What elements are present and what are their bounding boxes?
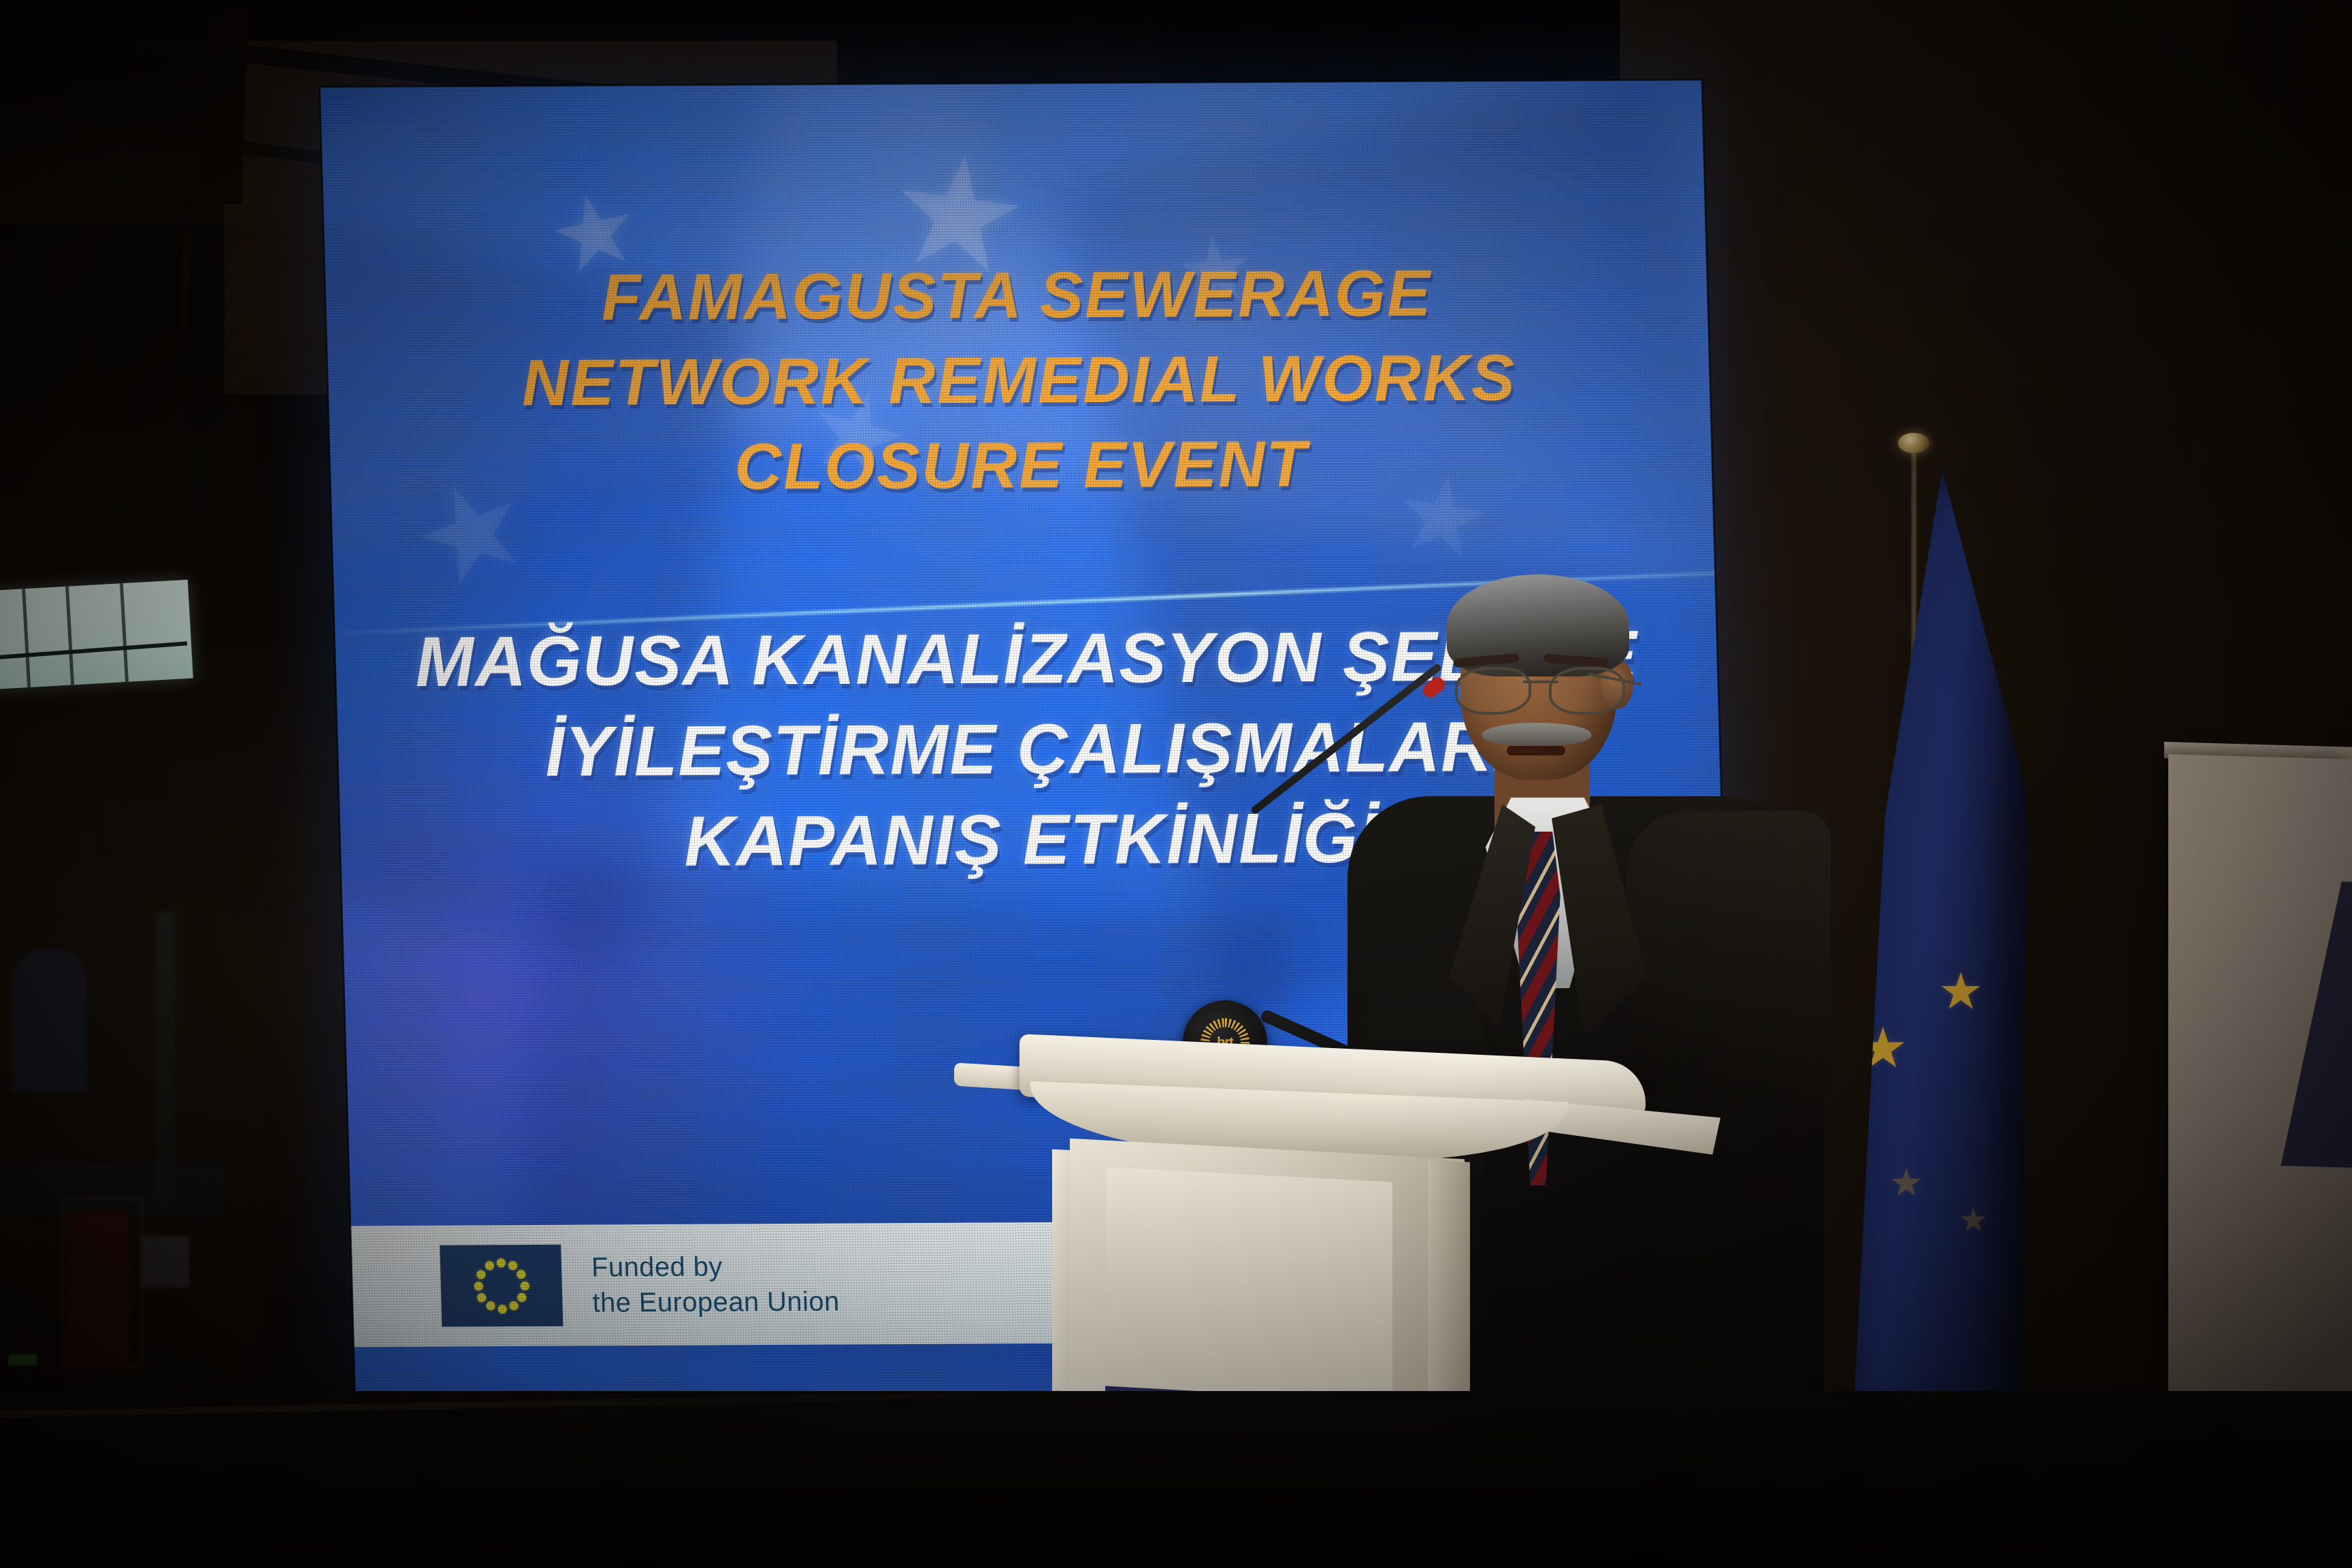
eu-flag-star-icon: [509, 1301, 518, 1310]
eu-flag-star-icon: [496, 1258, 505, 1267]
eu-flag-star-icon: [497, 1305, 506, 1313]
ceiling-pillar: [201, 0, 248, 204]
eu-flag-star-icon: [485, 1261, 493, 1270]
speaker-shoulder: [1627, 811, 1831, 1097]
eu-flag-icon: [440, 1245, 563, 1327]
background-door-light: [155, 912, 176, 1205]
eu-funding-line-2: the European Union: [592, 1284, 840, 1321]
stage-floor: [0, 1391, 2352, 1568]
eu-flag-star-icon: [474, 1281, 483, 1290]
eu-flag-star-icon: [517, 1293, 526, 1302]
eu-flag-draped-star-icon: ★: [1959, 1205, 1988, 1237]
background-clutter: [0, 939, 245, 1361]
speaker-moustache: [1482, 723, 1591, 746]
eu-flag-star-icon: [476, 1270, 485, 1279]
hall-window: [0, 580, 193, 690]
eu-flag-star-icon: [477, 1293, 486, 1302]
flag-pole-finial-icon: [1898, 433, 1929, 453]
slide-title-en-line-1: FAMAGUSTA SEWERAGE: [325, 250, 1709, 342]
banner-graphic-shape: [2281, 881, 2352, 1169]
eu-flag-draped-star-icon: ★: [1938, 966, 1983, 1017]
eu-flag-draped-star-icon: ★: [1889, 1164, 1923, 1202]
eu-flag-star-icon: [486, 1301, 495, 1310]
speaker-mouth: [1507, 746, 1565, 755]
eu-flag-star-icon: [520, 1281, 529, 1290]
slide-title-en-line-2: NETWORK REMEDIAL WORKS: [327, 335, 1711, 427]
slide-title-en-line-3: CLOSURE EVENT: [329, 420, 1714, 512]
eu-funding-line-1: Funded by: [591, 1249, 839, 1286]
eu-funding-text: Funded by the European Union: [591, 1249, 840, 1321]
eu-flag-star-icon: [508, 1261, 517, 1270]
event-photo-scene: ★ ★ ★ ★ ★ ★ FAMAGUSTA SEWERAGE NETWORK R…: [0, 0, 2352, 1568]
slide-title-english: FAMAGUSTA SEWERAGE NETWORK REMEDIAL WORK…: [325, 250, 1714, 512]
speaker-eyeglasses-icon: [1455, 667, 1625, 715]
eu-flag-star-icon: [517, 1270, 525, 1279]
